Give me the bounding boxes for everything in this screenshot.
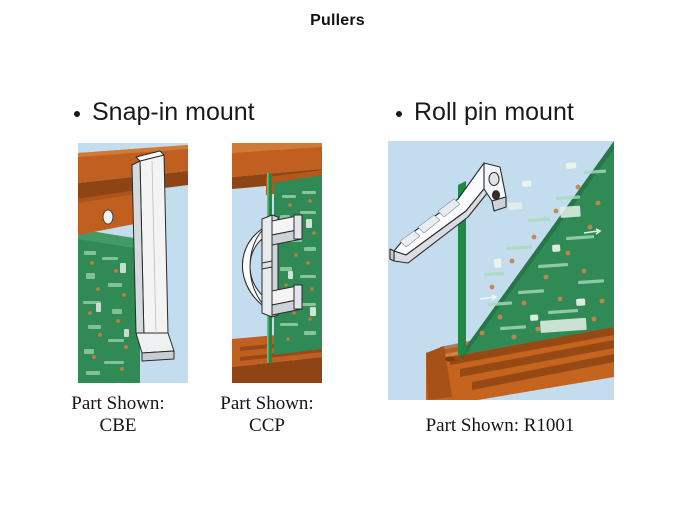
r1001-illustration [388, 141, 614, 400]
bullet-dot-icon [396, 111, 402, 117]
bullet-dot-icon [74, 111, 80, 117]
caption-part-shown-cbe: Part Shown: CBE [56, 393, 180, 437]
page-title: Pullers [0, 12, 675, 30]
cbe-illustration [78, 143, 188, 383]
illustration-panel-r1001 [388, 141, 614, 400]
heading-roll-pin-mount: Roll pin mount [396, 98, 574, 127]
illustration-panel-ccp [210, 143, 322, 383]
illustration-panel-cbe [78, 143, 188, 383]
heading-snap-in-mount: Snap-in mount [74, 98, 255, 127]
heading-snap-in-label: Snap-in mount [92, 98, 255, 127]
caption-part-shown-ccp: Part Shown: CCP [205, 393, 329, 437]
ccp-illustration [210, 143, 322, 383]
caption-part-shown-r1001: Part Shown: R1001 [385, 415, 615, 437]
heading-roll-pin-label: Roll pin mount [414, 98, 574, 127]
